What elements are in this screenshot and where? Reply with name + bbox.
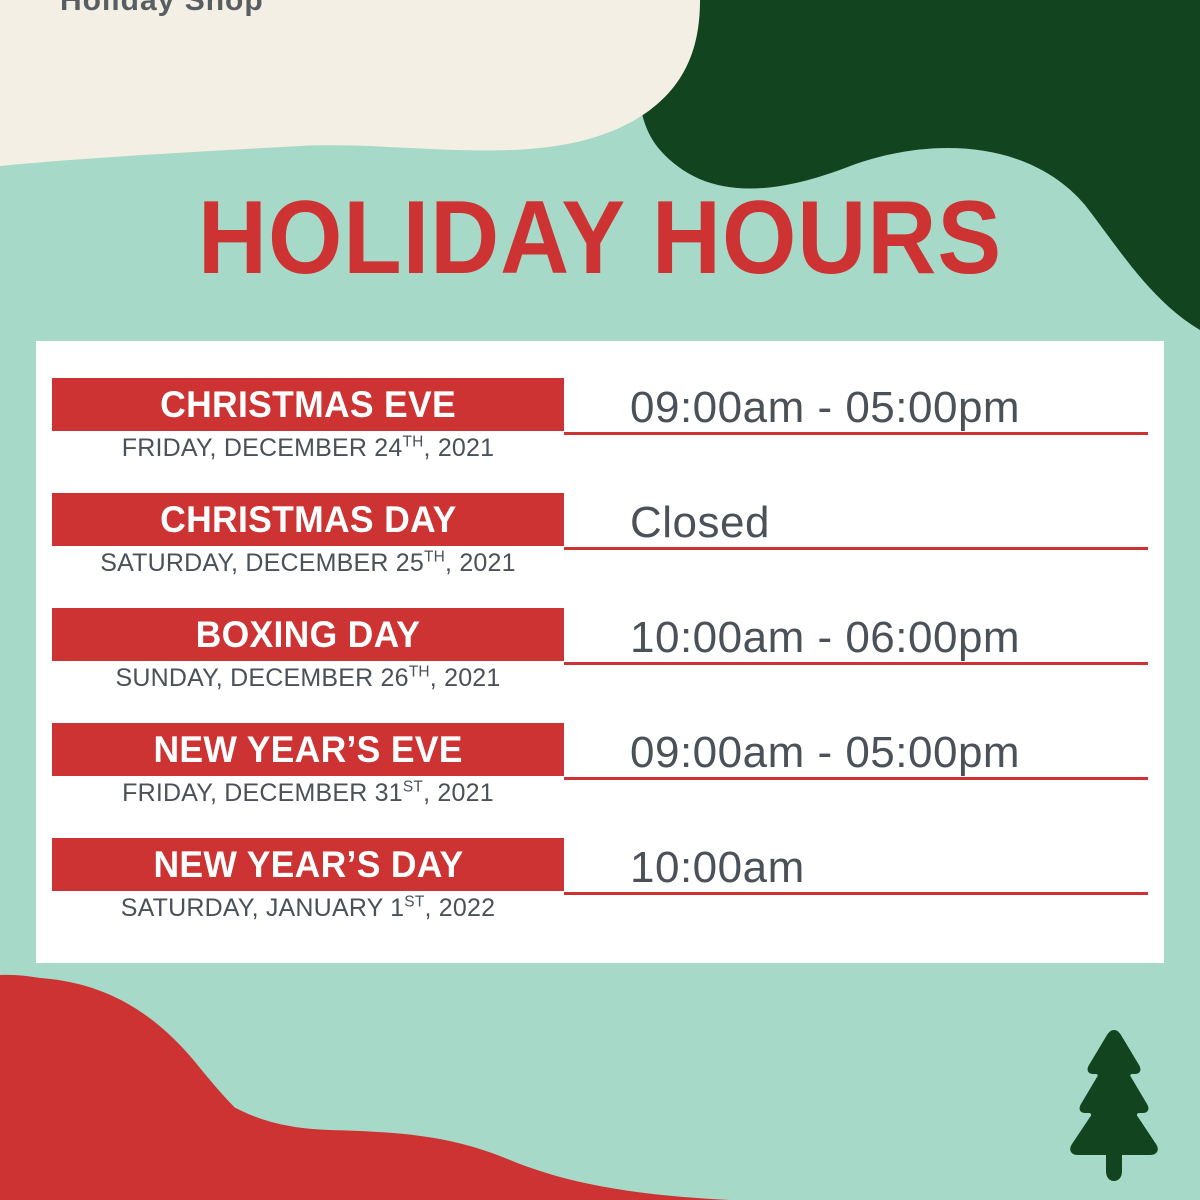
holiday-date-ordinal: ST	[403, 779, 423, 796]
holiday-name: BOXING DAY	[196, 616, 421, 653]
page-title: HOLIDAY HOURS	[48, 186, 1152, 290]
hours-value-underline: Closed	[564, 488, 1148, 550]
hours-value-underline: 09:00am - 05:00pm	[564, 718, 1148, 780]
hours-value-underline: 09:00am - 05:00pm	[564, 373, 1148, 435]
holiday-date-ordinal: TH	[409, 664, 430, 681]
hours-value: 10:00am	[630, 845, 805, 891]
hours-value: 10:00am - 06:00pm	[630, 615, 1020, 661]
holiday-label-bar: CHRISTMAS EVE	[52, 378, 564, 431]
hours-value: Closed	[630, 500, 770, 546]
holiday-date-suffix: , 2022	[425, 894, 496, 922]
holiday-date-ordinal: TH	[402, 434, 423, 451]
holiday-label-bar: NEW YEAR’S DAY	[52, 838, 564, 891]
hours-row-list: CHRISTMAS EVEFRIDAY, DECEMBER 24TH, 2021…	[36, 341, 1164, 923]
table-row: NEW YEAR’S EVEFRIDAY, DECEMBER 31ST, 202…	[36, 686, 1164, 801]
red-wave-shape	[0, 975, 730, 1200]
hours-value: 09:00am - 05:00pm	[630, 385, 1020, 431]
holiday-label-bar: BOXING DAY	[52, 608, 564, 661]
table-row: NEW YEAR’S DAYSATURDAY, JANUARY 1ST, 202…	[36, 801, 1164, 923]
holiday-name: CHRISTMAS EVE	[160, 386, 456, 423]
holiday-date-prefix: SATURDAY, JANUARY 1	[121, 894, 405, 922]
holiday-label-bar: CHRISTMAS DAY	[52, 493, 564, 546]
clipped-header-text: Holiday Shop	[60, 0, 264, 18]
holiday-hours-poster: Holiday Shop HOLIDAY HOURS CHRISTMAS EVE…	[0, 0, 1200, 1200]
christmas-tree-icon	[1056, 1024, 1172, 1184]
holiday-label-bar: NEW YEAR’S EVE	[52, 723, 564, 776]
hours-card: CHRISTMAS EVEFRIDAY, DECEMBER 24TH, 2021…	[36, 341, 1164, 963]
holiday-date-ordinal: ST	[404, 894, 424, 911]
table-row: CHRISTMAS DAYSATURDAY, DECEMBER 25TH, 20…	[36, 456, 1164, 571]
hours-value: 09:00am - 05:00pm	[630, 730, 1020, 776]
holiday-name: NEW YEAR’S EVE	[153, 731, 462, 768]
holiday-date-ordinal: TH	[424, 549, 445, 566]
holiday-name: NEW YEAR’S DAY	[153, 846, 463, 883]
holiday-name: CHRISTMAS DAY	[160, 501, 456, 538]
table-row: BOXING DAYSUNDAY, DECEMBER 26TH, 202110:…	[36, 571, 1164, 686]
table-row: CHRISTMAS EVEFRIDAY, DECEMBER 24TH, 2021…	[36, 341, 1164, 456]
hours-value-underline: 10:00am	[564, 833, 1148, 895]
holiday-date: SATURDAY, JANUARY 1ST, 2022	[52, 895, 564, 923]
hours-value-underline: 10:00am - 06:00pm	[564, 603, 1148, 665]
